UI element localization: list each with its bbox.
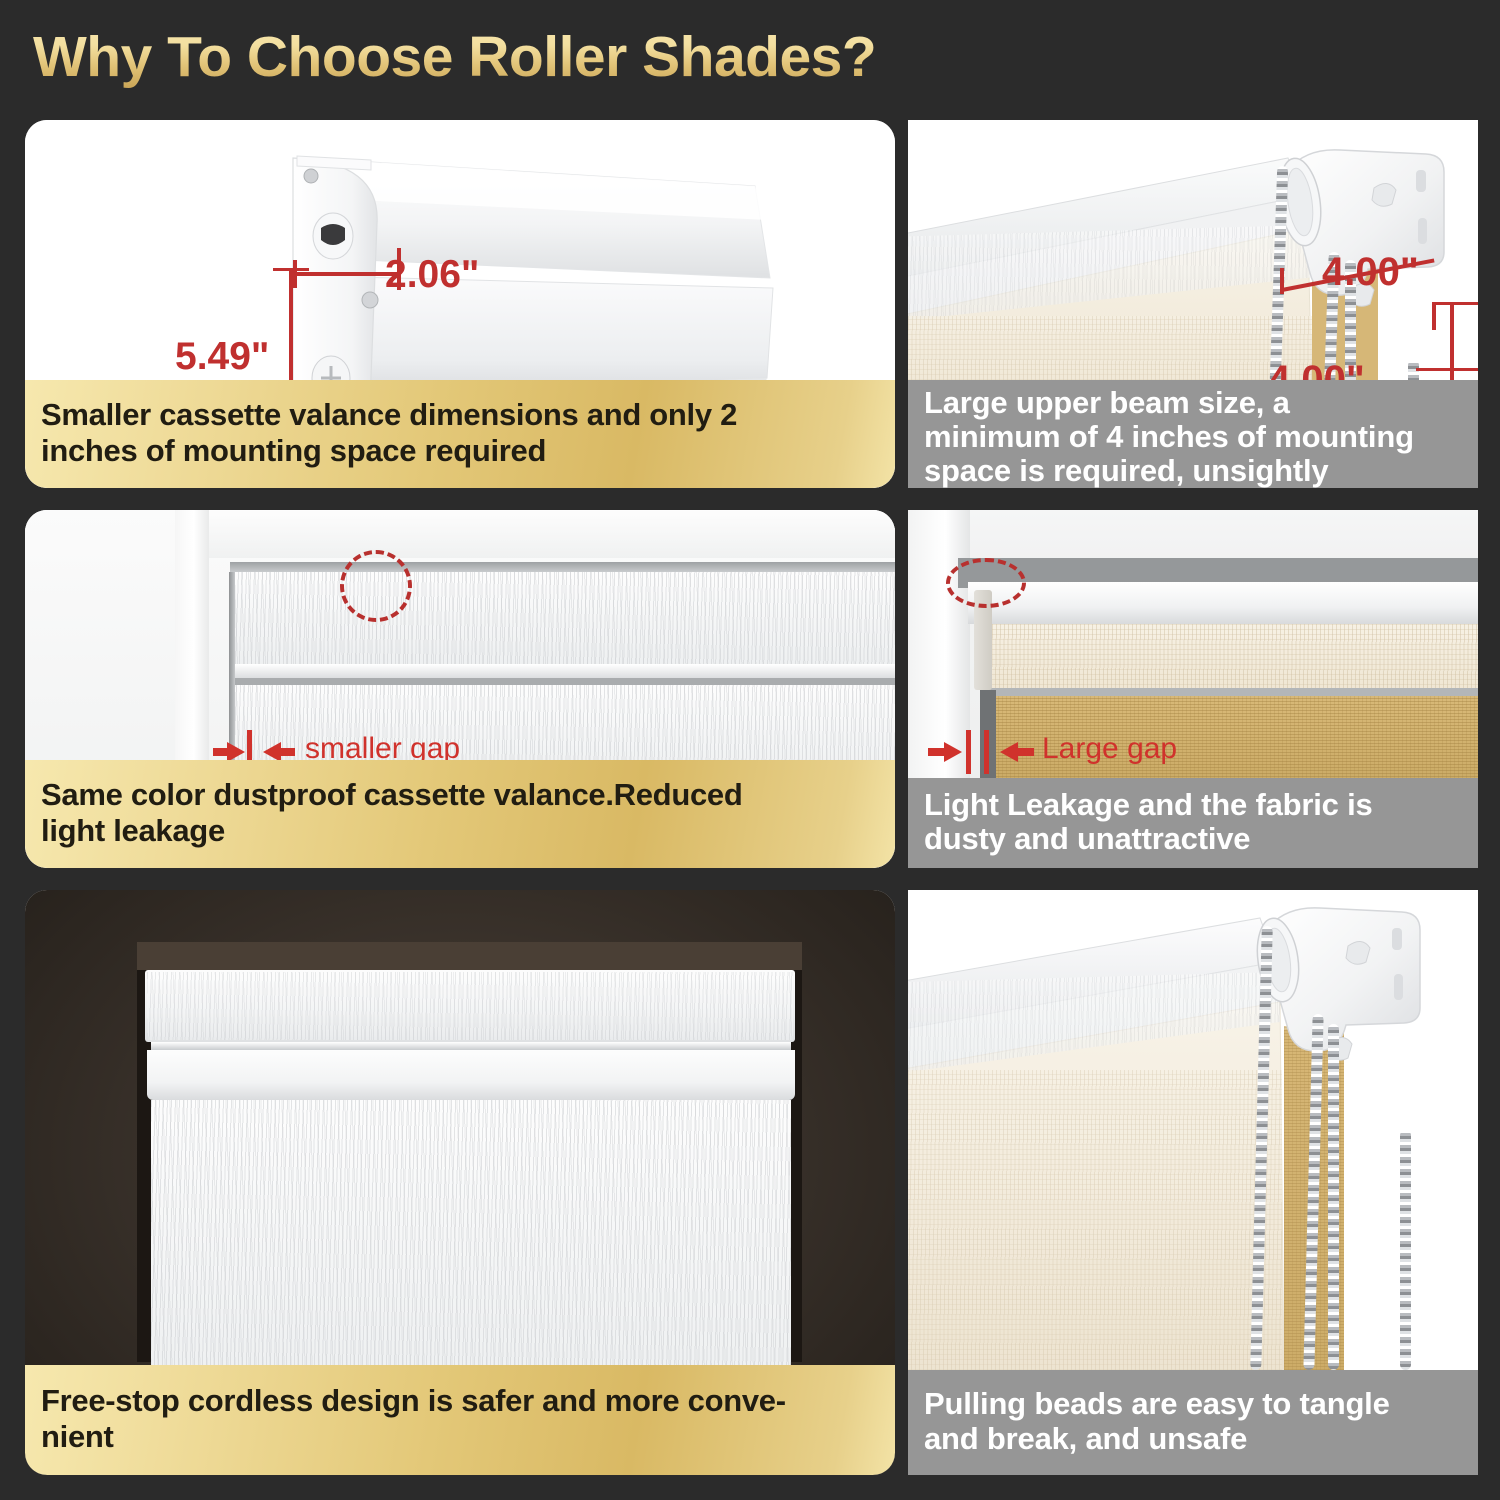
beige-fabric-band [980,624,1478,690]
valance-bottom-lip [230,664,895,678]
window-frame-header [209,510,895,558]
caption-text: Large upper beam size, a minimum of 4 in… [924,386,1414,488]
window-jamb-left [908,510,970,780]
gap-marker-bar-b [984,730,989,774]
gap-label: Large gap [1042,732,1177,766]
panel-pro-cassette-dimensions: 2.06" 5.49" Smaller cassette valance dim… [25,120,895,488]
gap-arrow-left-tail [213,748,229,756]
caption-pro-cordless-design: Free-stop cordless design is safer and m… [25,1365,895,1475]
gap-arrow-left [944,742,962,762]
caption-con-upper-beam-size: Large upper beam size, a minimum of 4 in… [908,380,1478,488]
window-recess-top [137,942,802,970]
caption-con-pulling-beads: Pulling beads are easy to tangle and bre… [908,1370,1478,1475]
caption-con-light-leakage: Light Leakage and the fabric is dusty an… [908,778,1478,868]
title-bar: Why To Choose Roller Shades? [0,0,1500,112]
page-title: Why To Choose Roller Shades? [33,24,876,90]
highlight-circle-gap [340,550,412,622]
panel-con-upper-beam-size: 4.00" 4.00" Large upper beam size, a min… [908,120,1478,488]
gap-arrow-left [227,742,245,762]
panel-pro-dustproof-valance: smaller gap Same color dustproof cassett… [25,510,895,868]
panel-con-pulling-beads: Pulling beads are easy to tangle and bre… [908,890,1478,1475]
beam-height-tick-bottom [1416,368,1478,371]
panel-pro-cordless-design: Free-stop cordless design is safer and m… [25,890,895,1475]
headrail-texture [147,972,793,1040]
bead-chain-rear [1328,1024,1339,1370]
width-dimension-label: 2.06" [385,253,479,297]
headrail-groove [151,1042,791,1050]
gap-arrow-left-tail [928,748,946,756]
window-frame-left-jamb [175,510,209,780]
beam-width-tick-left [1280,268,1284,294]
roller-front-bar [147,1050,795,1100]
highlight-circle-gap [946,558,1026,608]
height-dimension-tick-top [273,268,309,271]
height-dimension-label: 5.49" [175,335,269,379]
panel-con-light-leakage: Large gap Light Leakage and the fabric i… [908,510,1478,868]
caption-text: Same color dustproof cassette valance.Re… [41,777,742,849]
caption-pro-dustproof-valance: Same color dustproof cassette valance.Re… [25,760,895,868]
shade-fabric [151,1100,791,1380]
shade-fabric-upper [230,572,895,664]
bead-chain-tail [1400,1130,1411,1370]
caption-text: Pulling beads are easy to tangle and bre… [924,1387,1390,1455]
caption-pro-cassette-dimensions: Smaller cassette valance dimensions and … [25,380,895,488]
beam-width-label: 4.00" [1322,250,1419,295]
caption-text: Smaller cassette valance dimensions and … [41,397,737,469]
roller-shadow-line [232,678,895,685]
cassette-valance-bar [230,562,895,572]
fabric-divider-line [980,688,1478,696]
caption-text: Free-stop cordless design is safer and m… [41,1383,786,1455]
fabric-beige-texture [908,1070,1282,1370]
beam-height-tick-top [1433,302,1478,305]
width-dimension-tick-left [293,260,297,288]
beam-width-tick-right [1432,302,1436,330]
gap-marker-bar-a [966,730,971,774]
roller-tube [968,582,1478,624]
gap-arrow-right-tail [1016,748,1034,756]
caption-text: Light Leakage and the fabric is dusty an… [924,788,1373,856]
gap-arrow-right-tail [279,748,295,756]
